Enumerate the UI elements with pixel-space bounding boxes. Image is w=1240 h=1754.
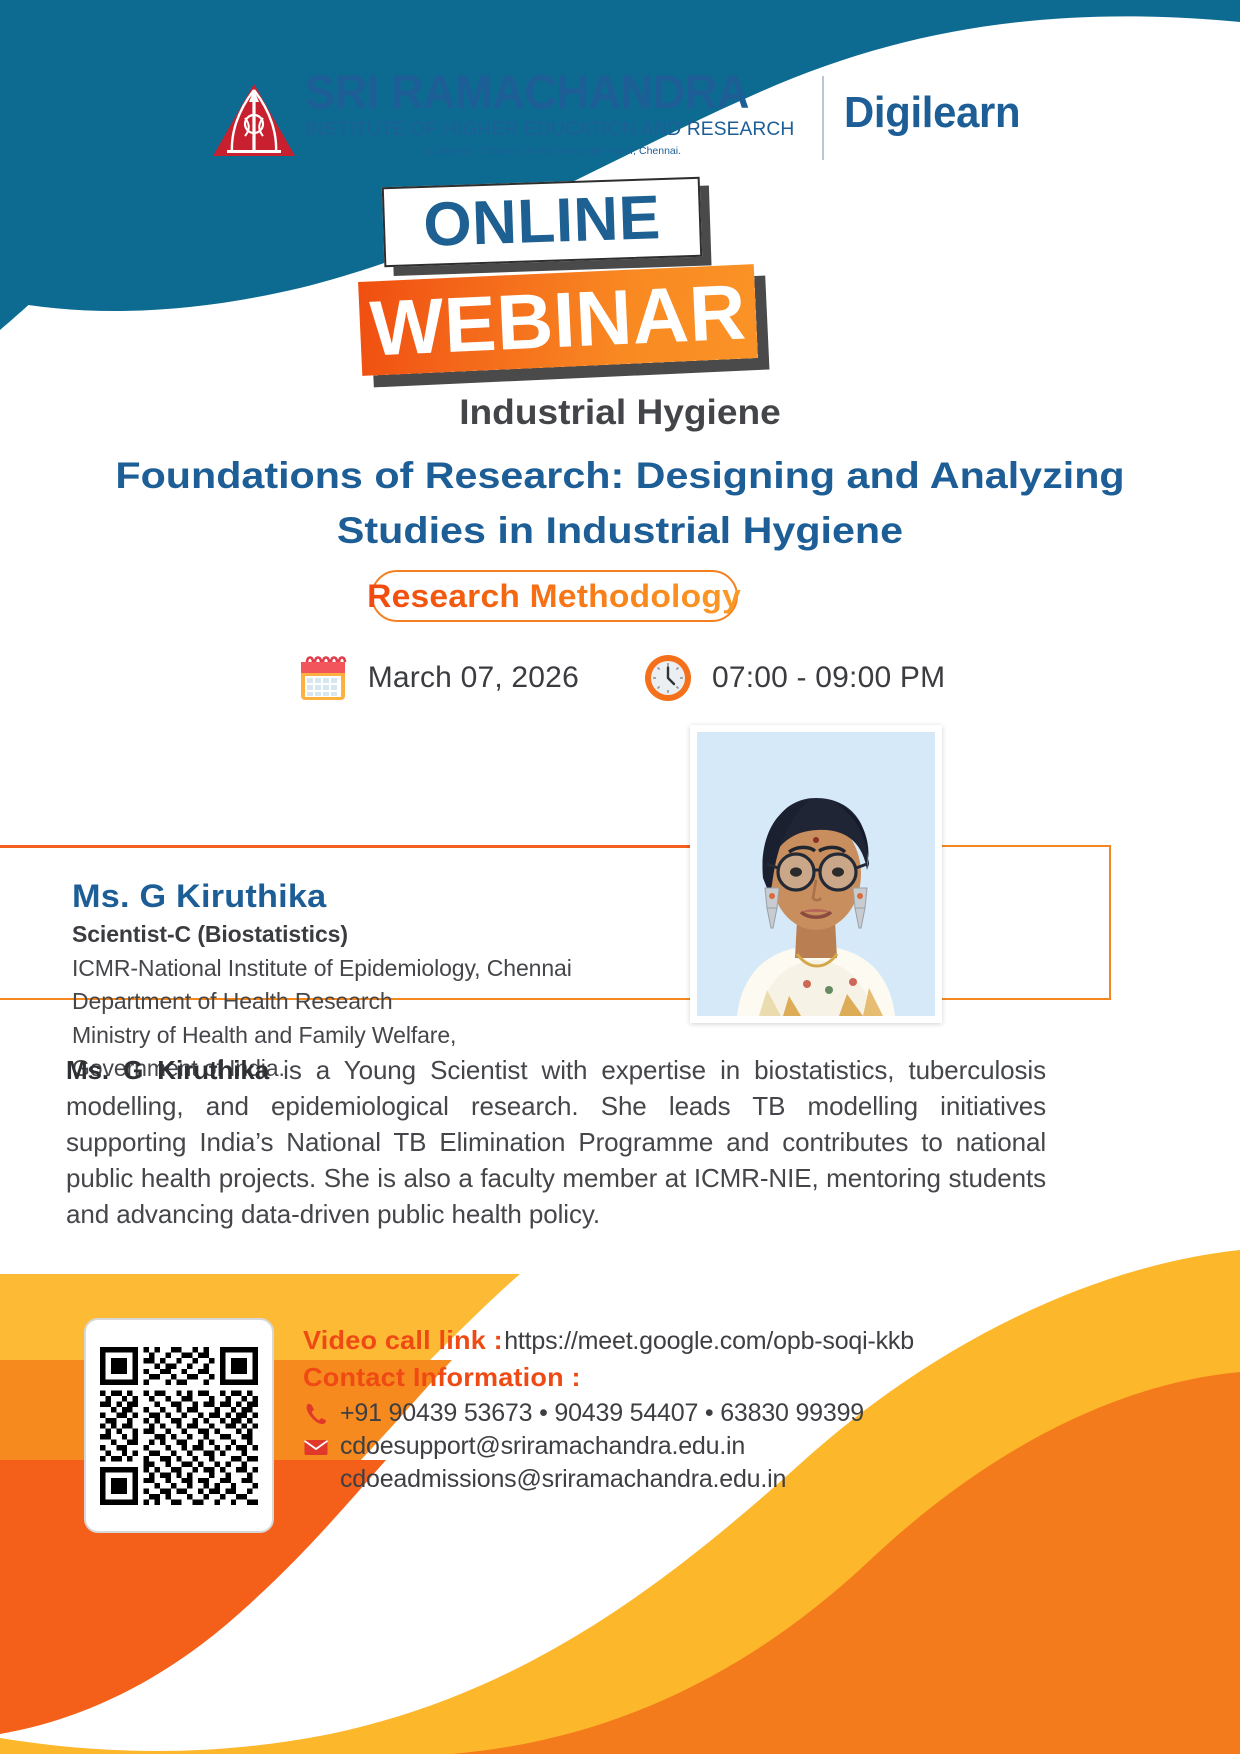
speaker-photo bbox=[697, 732, 935, 1016]
speaker-name: Ms. G Kiruthika bbox=[72, 878, 607, 915]
brand-tagline: (Category - I Deemed to be University) P… bbox=[305, 145, 802, 157]
phone-numbers[interactable]: +91 90439 53673 • 90439 54407 • 63830 99… bbox=[340, 1399, 864, 1428]
email-row-1: cdoesupport@sriramachandra.edu.in bbox=[303, 1432, 914, 1461]
category-badge-label: Research Methodology bbox=[368, 578, 742, 615]
event-title: Foundations of Research: Designing and A… bbox=[70, 448, 1170, 558]
product-name: Digilearn bbox=[844, 88, 1020, 138]
brand-name: SRI RAMACHANDRA bbox=[305, 68, 782, 115]
speaker-photo-frame bbox=[690, 725, 942, 1023]
banner-online-box: ONLINE bbox=[382, 177, 702, 267]
speaker-affiliation-1: ICMR-National Institute of Epidemiology,… bbox=[72, 952, 572, 985]
qr-code[interactable] bbox=[100, 1347, 258, 1505]
email-primary[interactable]: cdoesupport@sriramachandra.edu.in bbox=[340, 1432, 745, 1461]
speaker-bio: Ms. G Kiruthika is a Young Scientist wit… bbox=[66, 1053, 1046, 1232]
phone-row: +91 90439 53673 • 90439 54407 • 63830 99… bbox=[303, 1399, 914, 1428]
event-topic: Industrial Hygiene bbox=[0, 393, 1240, 433]
speaker-affiliation-3: Ministry of Health and Family Welfare, bbox=[72, 1019, 572, 1052]
contact-info-label: Contact Information : bbox=[303, 1362, 581, 1393]
speaker-top-rule bbox=[0, 845, 780, 848]
event-date: March 07, 2026 bbox=[295, 650, 579, 706]
category-badge: Research Methodology bbox=[371, 570, 738, 622]
contact-info-line: Contact Information : bbox=[303, 1362, 914, 1393]
event-time: 07:00 - 09:00 PM bbox=[641, 651, 945, 705]
email-secondary[interactable]: cdoeadmissions@sriramachandra.edu.in bbox=[340, 1465, 786, 1494]
brand-header: SRI RAMACHANDRA INSTITUTE OF HIGHER EDUC… bbox=[0, 68, 1240, 160]
banner-webinar-text: WEBINAR bbox=[368, 273, 747, 368]
event-datetime-row: March 07, 2026 07:00 - 09:00 PM bbox=[0, 650, 1240, 706]
sri-ramachandra-emblem-icon bbox=[211, 82, 297, 160]
brand-subtitle: INSTITUTE OF HIGHER EDUCATION AND RESEAR… bbox=[305, 115, 794, 144]
speaker-bio-lead: Ms. G Kiruthika bbox=[66, 1055, 269, 1085]
speaker-role: Scientist-C (Biostatistics) bbox=[72, 921, 572, 948]
clock-icon bbox=[641, 651, 695, 705]
video-call-label: Video call link : bbox=[303, 1325, 503, 1356]
event-time-label: 07:00 - 09:00 PM bbox=[712, 661, 945, 695]
contact-block: Video call link : https://meet.google.co… bbox=[303, 1325, 914, 1498]
banner-online-text: ONLINE bbox=[422, 187, 661, 257]
webinar-banner: ONLINE WEBINAR bbox=[0, 176, 1240, 391]
email-row-2: cdoeadmissions@sriramachandra.edu.in bbox=[340, 1465, 914, 1494]
header-divider bbox=[822, 76, 824, 160]
banner-webinar-box: WEBINAR bbox=[358, 264, 758, 376]
calendar-icon bbox=[295, 650, 351, 706]
speaker-affiliation-2: Department of Health Research bbox=[72, 985, 572, 1018]
video-call-link[interactable]: https://meet.google.com/opb-soqi-kkb bbox=[504, 1327, 914, 1356]
event-date-label: March 07, 2026 bbox=[368, 661, 579, 695]
webinar-poster: SRI RAMACHANDRA INSTITUTE OF HIGHER EDUC… bbox=[0, 0, 1240, 1754]
video-call-line: Video call link : https://meet.google.co… bbox=[303, 1325, 914, 1356]
envelope-icon bbox=[303, 1434, 329, 1460]
qr-code-container[interactable] bbox=[84, 1318, 274, 1533]
phone-icon bbox=[303, 1401, 329, 1427]
